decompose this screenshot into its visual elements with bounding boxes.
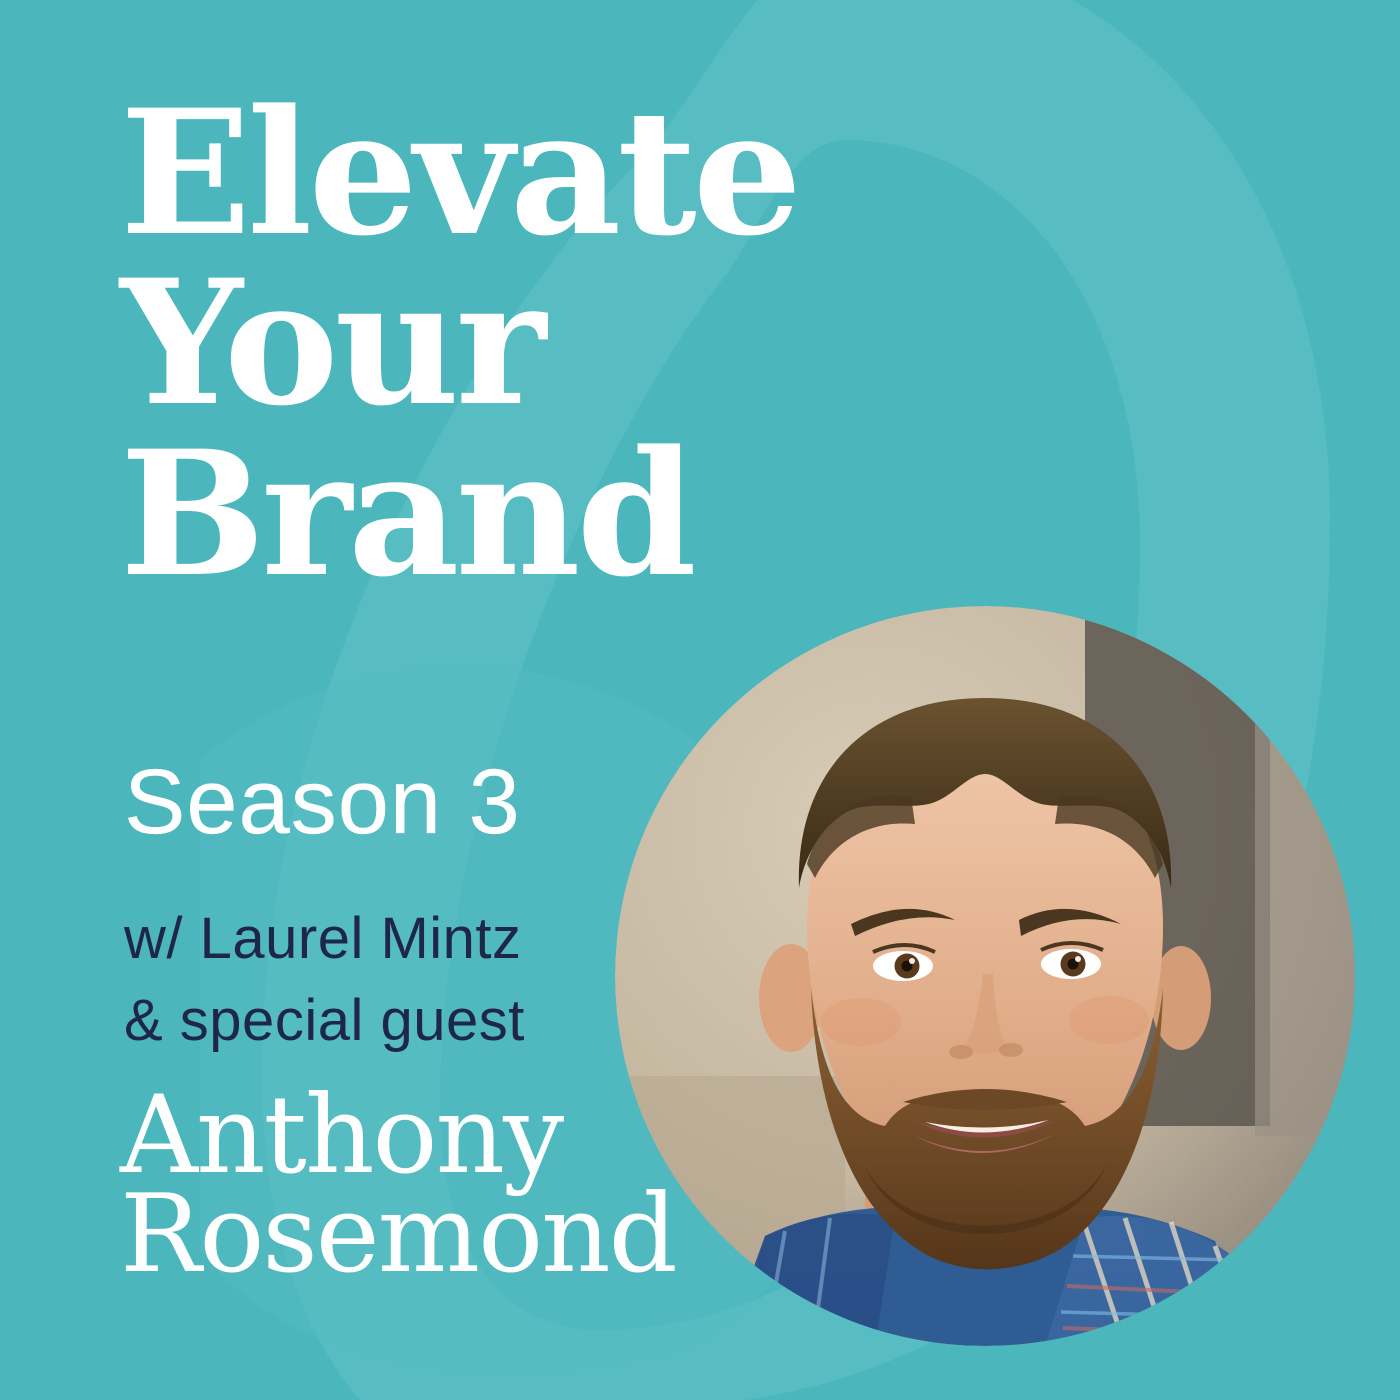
- title-line-3: Brand: [120, 429, 1020, 599]
- title-line-1: Elevate: [120, 88, 1020, 258]
- guest-last-name: Rosemond: [120, 1185, 676, 1284]
- title-line-2: Your: [120, 258, 1020, 428]
- guest-first-name: Anthony: [120, 1086, 676, 1185]
- host-line-1: w/ Laurel Mintz: [124, 898, 525, 980]
- season-label: Season 3: [124, 756, 521, 848]
- page-title: Elevate Your Brand: [120, 88, 1020, 599]
- host-line-2: & special guest: [124, 980, 525, 1062]
- hosts-line: w/ Laurel Mintz & special guest: [124, 898, 525, 1063]
- cover-text-stack: Elevate Your Brand Season 3 w/ Laurel Mi…: [120, 0, 1020, 1400]
- guest-name: Anthony Rosemond: [120, 1086, 676, 1285]
- podcast-cover-art: Elevate Your Brand Season 3 w/ Laurel Mi…: [0, 0, 1400, 1400]
